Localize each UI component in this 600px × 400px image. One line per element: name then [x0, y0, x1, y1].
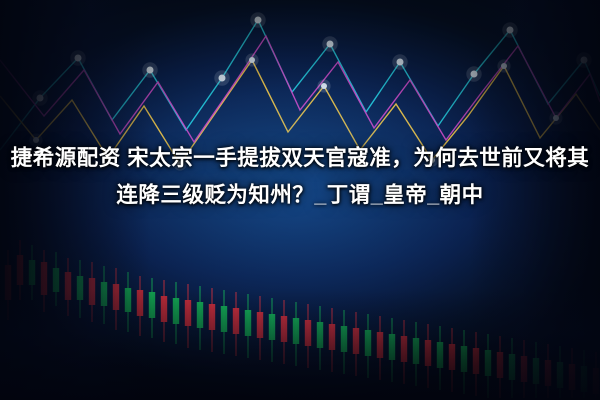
bottom-shadow: [0, 290, 600, 400]
image-canvas: 捷希源配资 宋太宗一手提拔双天官寇准，为何去世前又将其连降三级贬为知州？_丁谓_…: [0, 0, 600, 400]
headline-text: 捷希源配资 宋太宗一手提拔双天官寇准，为何去世前又将其连降三级贬为知州？_丁谓_…: [0, 140, 600, 214]
